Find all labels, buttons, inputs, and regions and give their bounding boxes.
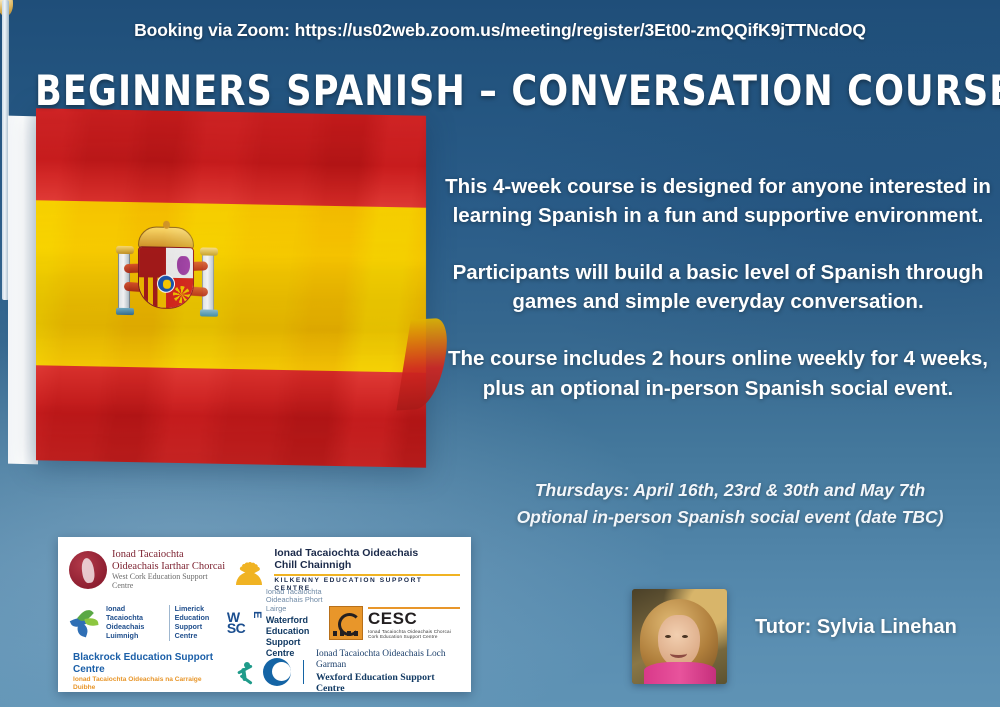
west-cork-logo-text: Ionad Tacaiochta Oideachais Iarthar Chor… <box>112 549 229 591</box>
logo-limerick-education-support-centre: Ionad Tacaiochta Oideachais Luimnigh Lim… <box>69 605 227 640</box>
wesc-letters-sc: SC <box>227 623 261 634</box>
west-cork-line-3: West Cork Education Support Centre <box>112 573 229 591</box>
logo-wexford-education-support-centre: Ionad Tacaiochta Oideachais Loch Garman … <box>263 649 456 695</box>
kilkenny-sun-icon <box>229 555 269 585</box>
cesc-spiral-icon <box>329 606 363 640</box>
schedule-details: Thursdays: April 16th, 23rd & 30th and M… <box>470 477 990 531</box>
west-cork-line-2: Oideachais Iarthar Chorcai <box>112 561 229 573</box>
tutor-shirt <box>644 662 716 684</box>
logo-row-3: Blackrock Education Support Centre Ionad… <box>69 654 460 690</box>
logo-row-2: Ionad Tacaiochta Oideachais Luimnigh Lim… <box>69 598 460 648</box>
wesc-monogram-icon: W E SC <box>227 606 261 640</box>
logo-cork-education-support-centre: CESC Ionad Tacaiochta Oideachais Chorcai… <box>329 606 460 640</box>
cesc-line-2: Cork Education Support Centre <box>368 634 460 639</box>
west-cork-crest-icon <box>69 551 107 589</box>
tutor-avatar <box>632 589 727 684</box>
wexford-divider <box>303 660 304 684</box>
tutor-smile <box>670 649 687 658</box>
course-description: This 4-week course is designed for anyon… <box>440 172 996 403</box>
spanish-flag-image <box>0 112 428 468</box>
page-title: BEGINNERS SPANISH – CONVERSATION COURSE <box>35 66 965 115</box>
logo-kilkenny-education-support-centre: Ionad Tacaiochta Oideachais Chill Chainn… <box>229 548 460 592</box>
flag-body <box>36 108 426 467</box>
cesc-logo-text: CESC Ionad Tacaiochta Oideachais Chorcai… <box>368 607 460 639</box>
logo-blackrock-education-support-centre: Blackrock Education Support Centre Ionad… <box>73 652 263 692</box>
tutor-eye-right <box>682 635 688 638</box>
description-paragraph-2: Participants will build a basic level of… <box>440 258 996 316</box>
limerick-english-name: Limerick Education Support Centre <box>169 605 227 640</box>
west-cork-line-1: Ionad Tacaiochta <box>112 549 229 561</box>
coa-escutcheon-bourbon <box>157 275 175 293</box>
description-paragraph-1: This 4-week course is designed for anyon… <box>440 172 996 230</box>
blackrock-logo-text: Blackrock Education Support Centre Ionad… <box>73 652 226 692</box>
flag-hoist-edge <box>8 116 38 465</box>
wesc-letter-e: E <box>251 611 262 618</box>
wexford-line-2: Wexford Education Support Centre <box>316 672 456 696</box>
tutor-eye-left <box>665 635 671 638</box>
kilkenny-logo-text: Ionad Tacaiochta Oideachais Chill Chainn… <box>274 548 460 592</box>
limerick-logo-text: Ionad Tacaiochta Oideachais Luimnigh Lim… <box>106 605 227 640</box>
flyer-canvas: Booking via Zoom: https://us02web.zoom.u… <box>0 0 1000 707</box>
tutor-face <box>658 615 700 667</box>
blackrock-line-1: Blackrock Education Support Centre <box>73 652 226 675</box>
flag-fabric-shadows <box>36 108 426 467</box>
kilkenny-divider <box>274 574 460 576</box>
blackrock-line-2: Ionad Tacaiochta Oideachais na Carraige … <box>73 676 226 692</box>
waterford-line-1: Ionad Tacaiochta Oideachais Phort Lairge <box>266 588 329 615</box>
wexford-crescent-icon <box>263 658 291 686</box>
booking-zoom-link[interactable]: Booking via Zoom: https://us02web.zoom.u… <box>0 20 1000 41</box>
cesc-acronym: CESC <box>368 610 460 627</box>
tutor-name-label: Tutor: Sylvia Linehan <box>755 616 957 639</box>
blackrock-figure-icon <box>233 657 263 687</box>
logo-west-cork-education-support-centre: Ionad Tacaiochta Oideachais Iarthar Chor… <box>69 549 229 591</box>
partner-logos-panel: Ionad Tacaiochta Oideachais Iarthar Chor… <box>58 537 471 692</box>
schedule-social-event-line: Optional in-person Spanish social event … <box>470 504 990 531</box>
limerick-leaf-icon <box>69 608 101 638</box>
kilkenny-line-2: Chill Chainnigh <box>274 560 460 572</box>
logo-waterford-education-support-centre: W E SC Ionad Tacaiochta Oideachais Phort… <box>227 588 329 659</box>
wexford-logo-text: Ionad Tacaiochta Oideachais Loch Garman … <box>316 649 456 695</box>
limerick-irish-name: Ionad Tacaiochta Oideachais Luimnigh <box>106 605 164 640</box>
wexford-line-1: Ionad Tacaiochta Oideachais Loch Garman <box>316 649 456 672</box>
schedule-dates-line: Thursdays: April 16th, 23rd & 30th and M… <box>470 477 990 504</box>
waterford-logo-text: Ionad Tacaiochta Oideachais Phort Lairge… <box>266 588 329 659</box>
description-paragraph-3: The course includes 2 hours online weekl… <box>440 344 996 402</box>
cesc-line-1: Ionad Tacaiochta Oideachais Chorcai <box>368 629 460 634</box>
